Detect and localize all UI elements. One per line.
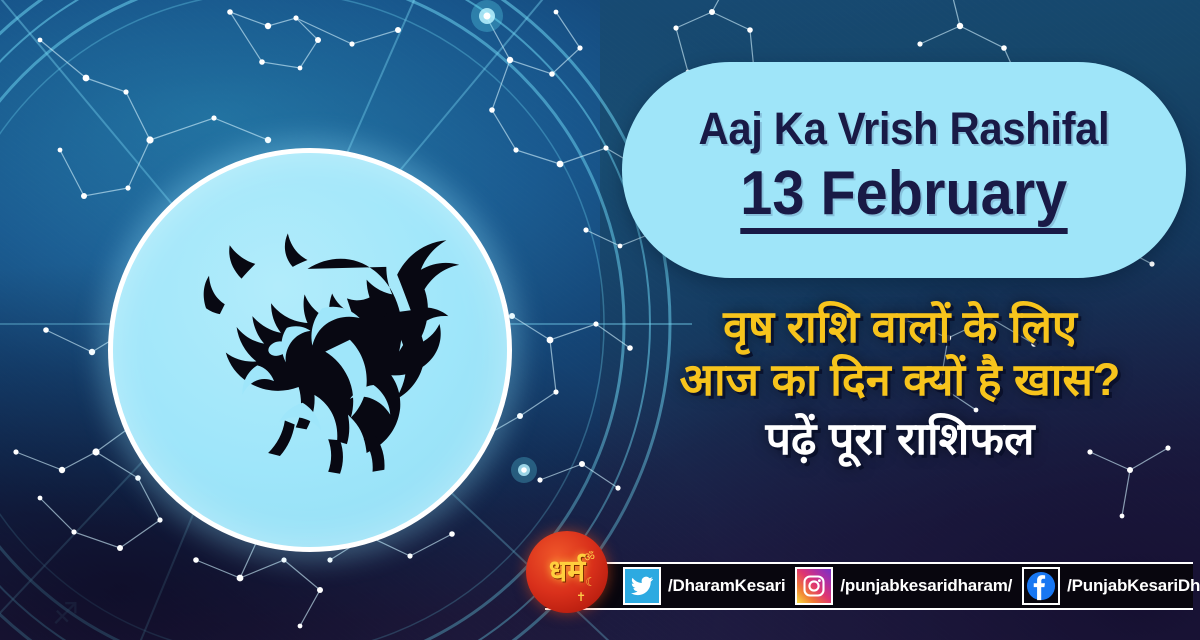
cross-icon: ✝	[576, 590, 586, 604]
poster-title-line1: Aaj Ka Vrish Rashifal	[699, 106, 1110, 151]
social-item-instagram[interactable]: /punjabkesaridharam/	[795, 564, 1022, 608]
taurus-zodiac-disc	[108, 148, 512, 552]
social-media-bar: /DharamKesari /punjabkesaridharam/ /Punj…	[545, 562, 1193, 610]
hindi-headline-block: वृष राशि वालों के लिए आज का दिन क्यों है…	[600, 300, 1200, 465]
headline-cta: पढ़ें पूरा राशिफल	[600, 412, 1200, 465]
om-icon: ॐ	[584, 548, 595, 565]
zodiac-horoscope-poster: ♈ ♒ ♐ ♑ ♓	[0, 0, 1200, 640]
crescent-icon: ☾	[585, 575, 596, 589]
taurus-bull-icon	[145, 192, 484, 507]
title-pill-card: Aaj Ka Vrish Rashifal 13 February	[622, 62, 1186, 278]
headline-line1: वृष राशि वालों के लिए	[600, 300, 1200, 353]
social-item-facebook[interactable]: /PunjabKesariDharam/	[1022, 564, 1200, 608]
instagram-icon[interactable]	[795, 567, 833, 605]
brand-logo-text: धर्म	[549, 557, 585, 587]
dharam-brand-logo[interactable]: धर्म ॐ ☾ ✝	[526, 531, 608, 613]
poster-date: 13 February	[741, 163, 1068, 234]
twitter-icon[interactable]	[623, 567, 661, 605]
headline-line2: आज का दिन क्यों है खास?	[600, 353, 1200, 406]
facebook-handle[interactable]: /PunjabKesariDharam/	[1060, 576, 1200, 596]
twitter-handle[interactable]: /DharamKesari	[661, 576, 795, 596]
social-item-twitter[interactable]: /DharamKesari	[623, 564, 795, 608]
instagram-handle[interactable]: /punjabkesaridharam/	[833, 576, 1022, 596]
facebook-icon[interactable]	[1022, 567, 1060, 605]
